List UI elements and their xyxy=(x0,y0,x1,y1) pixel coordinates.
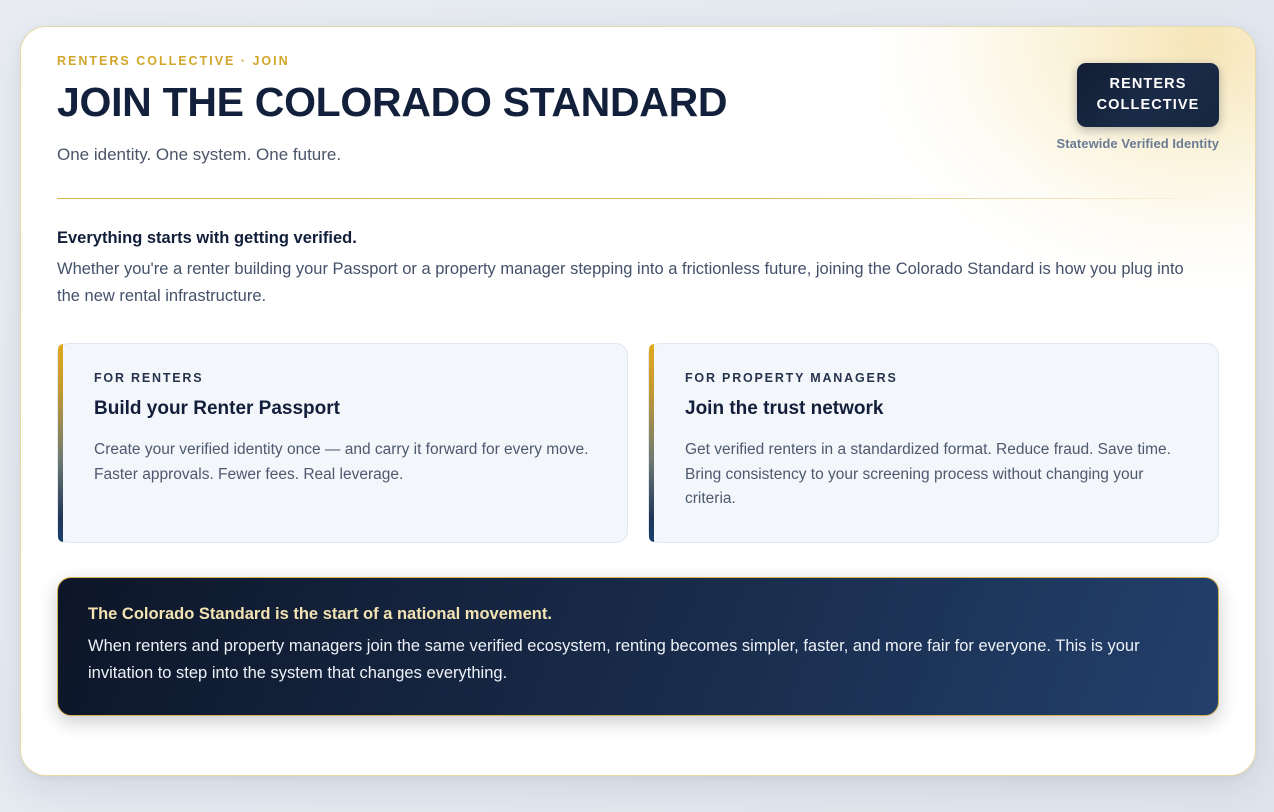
feature-card-renters[interactable]: FOR RENTERS Build your Renter Passport C… xyxy=(57,343,628,543)
brand-badge: RENTERS COLLECTIVE xyxy=(1077,63,1219,127)
accent-bar xyxy=(58,344,63,542)
banner-body: When renters and property managers join … xyxy=(88,633,1178,687)
brand-badge-line-1: RENTERS xyxy=(1095,74,1201,95)
feature-title: Join the trust network xyxy=(685,397,1188,421)
brand-group: RENTERS COLLECTIVE Statewide Verified Id… xyxy=(1057,55,1219,151)
header-left-group: RENTERS COLLECTIVE · JOIN JOIN THE COLOR… xyxy=(57,55,727,166)
page-subtitle: One identity. One system. One future. xyxy=(57,144,727,166)
page-title: JOIN THE COLORADO STANDARD xyxy=(57,80,727,124)
feature-card-row: FOR RENTERS Build your Renter Passport C… xyxy=(57,343,1219,543)
banner-heading: The Colorado Standard is the start of a … xyxy=(88,604,1188,625)
feature-kicker: FOR RENTERS xyxy=(94,372,597,385)
brand-tagline: Statewide Verified Identity xyxy=(1057,136,1219,151)
accent-bar xyxy=(649,344,654,542)
card-inner: RENTERS COLLECTIVE · JOIN JOIN THE COLOR… xyxy=(21,27,1255,775)
feature-title: Build your Renter Passport xyxy=(94,397,597,421)
breadcrumb: RENTERS COLLECTIVE · JOIN xyxy=(57,55,727,68)
feature-kicker: FOR PROPERTY MANAGERS xyxy=(685,372,1188,385)
intro-body: Whether you're a renter building your Pa… xyxy=(57,256,1197,311)
main-content-card: RENTERS COLLECTIVE · JOIN JOIN THE COLOR… xyxy=(20,26,1256,776)
page-header: RENTERS COLLECTIVE · JOIN JOIN THE COLOR… xyxy=(57,55,1219,166)
closing-banner: The Colorado Standard is the start of a … xyxy=(57,577,1219,717)
brand-badge-line-2: COLLECTIVE xyxy=(1095,95,1201,116)
intro-lead: Everything starts with getting verified. xyxy=(57,227,1219,249)
feature-body: Get verified renters in a standardized f… xyxy=(685,438,1188,511)
section-divider xyxy=(57,198,1219,200)
feature-card-property-managers[interactable]: FOR PROPERTY MANAGERS Join the trust net… xyxy=(648,343,1219,543)
feature-body: Create your verified identity once — and… xyxy=(94,438,597,487)
intro-section: Everything starts with getting verified.… xyxy=(57,227,1219,311)
